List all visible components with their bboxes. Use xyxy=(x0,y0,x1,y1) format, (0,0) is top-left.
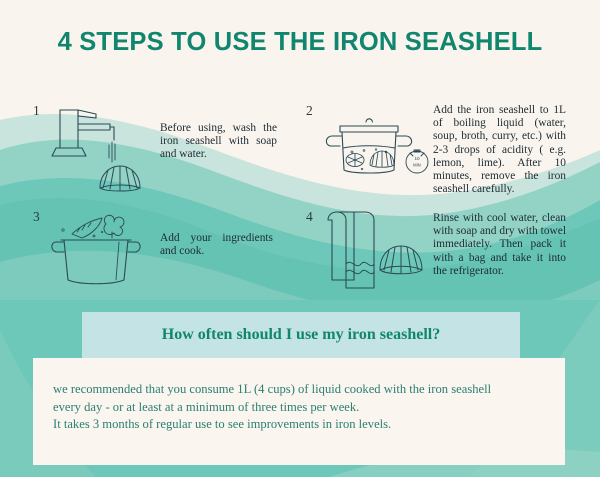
step-1-text: Before using, wash the iron seashell wit… xyxy=(160,122,277,162)
step-3-number: 3 xyxy=(33,209,40,225)
carrot-icon xyxy=(72,218,102,238)
step-3-text: Add your ingredients and cook. xyxy=(160,232,273,258)
step-2-text: Add the iron seashell to 1L of boiling l… xyxy=(433,104,566,196)
lemon-icon xyxy=(346,154,364,167)
step-1-illustration xyxy=(48,100,158,200)
step-1-number: 1 xyxy=(33,103,40,119)
faq-answer-line-2: every day - or at least at a minimum of … xyxy=(53,399,553,417)
faq-answer: we recommended that you consume 1L (4 cu… xyxy=(53,381,553,434)
water-drops-icon xyxy=(109,142,115,162)
pot-icon xyxy=(326,119,411,173)
pot-icon xyxy=(52,240,140,284)
timer-value-bottom: MIN xyxy=(413,163,421,168)
step-3-illustration xyxy=(46,212,156,294)
seashell-icon xyxy=(380,246,422,274)
step-2-illustration: 10 MIN xyxy=(318,112,433,182)
infographic-page: 4 STEPS TO USE THE IRON SEASHELL 1 xyxy=(0,0,600,477)
step-2-number: 2 xyxy=(306,103,313,119)
faq-answer-line-3: It takes 3 months of regular use to see … xyxy=(53,416,553,434)
faq-answer-line-1: we recommended that you consume 1L (4 cu… xyxy=(53,381,553,399)
seashell-icon xyxy=(100,166,140,191)
towel-icon xyxy=(328,212,374,288)
faucet-icon xyxy=(52,110,114,156)
page-title: 4 STEPS TO USE THE IRON SEASHELL xyxy=(0,28,600,57)
timer-value-top: 10 xyxy=(414,156,420,161)
faq-question: How often should I use my iron seashell? xyxy=(82,312,520,358)
timer-icon xyxy=(406,150,428,173)
broccoli-icon xyxy=(104,215,124,238)
faq-banner: How often should I use my iron seashell? xyxy=(82,312,520,358)
seashell-icon xyxy=(370,151,394,167)
step-4-number: 4 xyxy=(306,209,313,225)
faq-answer-panel: we recommended that you consume 1L (4 cu… xyxy=(33,358,565,465)
step-4-illustration xyxy=(318,208,428,298)
step-4-text: Rinse with cool water, clean with soap a… xyxy=(433,212,566,278)
